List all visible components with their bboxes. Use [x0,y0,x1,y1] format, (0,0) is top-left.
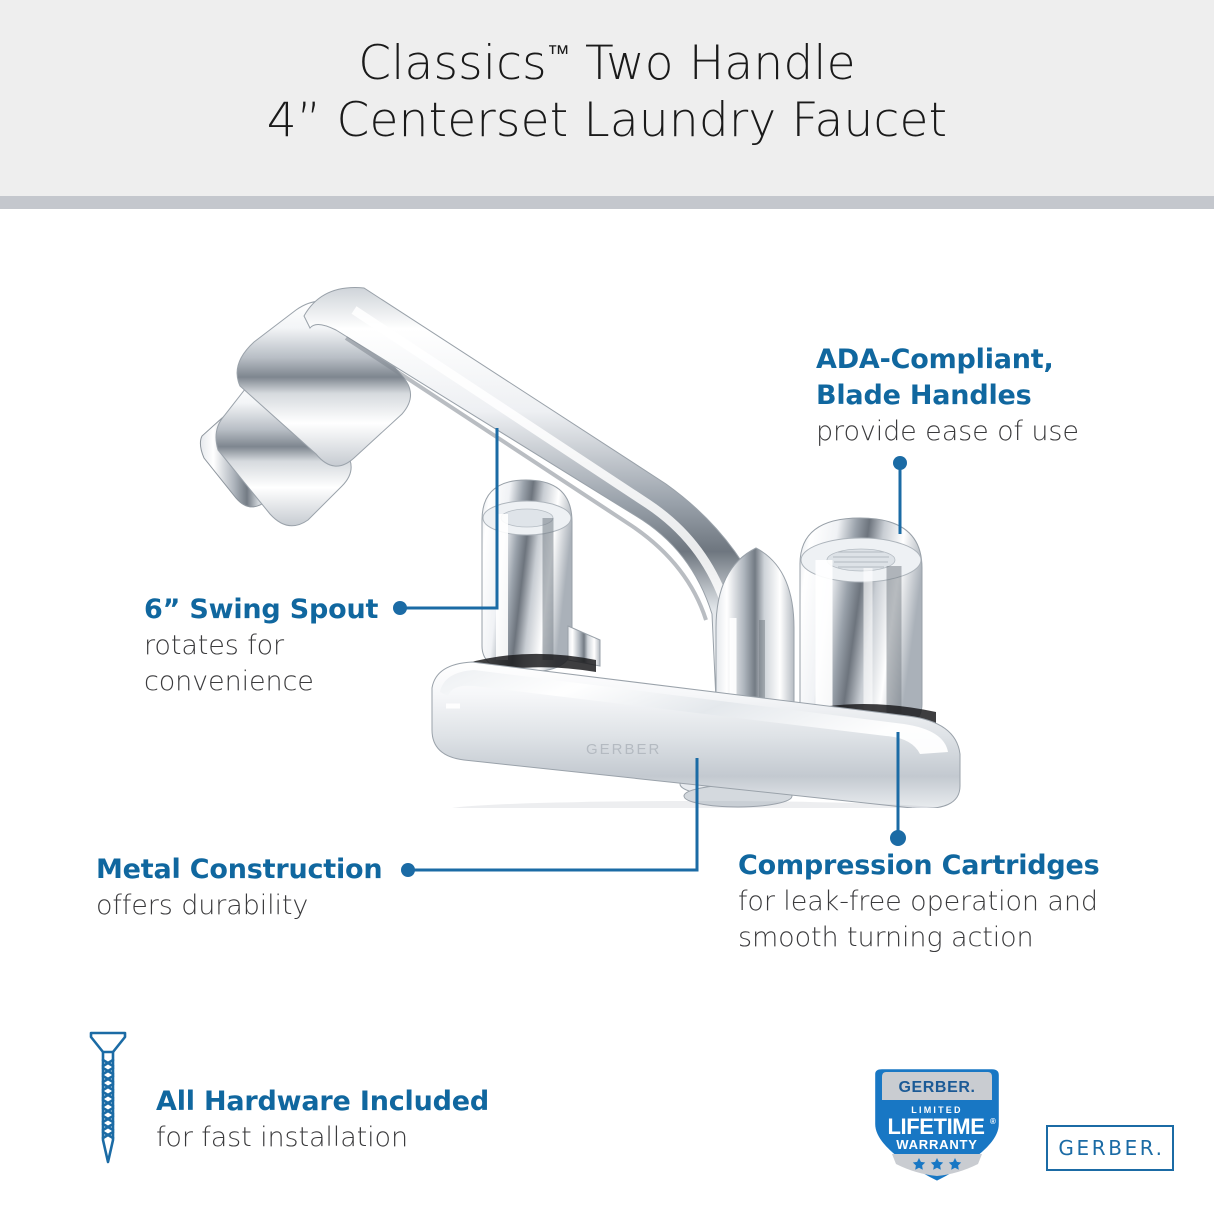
warranty-badge: GERBER. LIMITED LIFETIME ® WARRANTY [866,1064,1008,1186]
product-family-name: Classics [358,36,547,91]
callout-spout-body-line-1: rotates for [144,628,464,664]
page-title-line-1: Classics™ Two Handle [0,26,1214,92]
faucet-handle-right [800,518,922,736]
faucet-handle-left [482,480,600,672]
callout-ada-heading-line-1: ADA-Compliant, [816,342,1176,378]
callout-metal-body-line-1: offers durability [96,888,426,924]
faucet-deck-brand: GERBER [586,741,661,758]
callout-ada-heading-line-2: Blade Handles [816,378,1176,414]
callout-hardware-heading-line-1: All Hardware Included [156,1084,556,1120]
callout-cartridge-body-line-1: for leak-free operation and [738,884,1158,920]
callout-cartridge-body-line-2: smooth turning action [738,920,1158,956]
callout-hardware-body-line-1: for fast installation [156,1120,556,1156]
badge-registered-mark: ® [990,1117,996,1126]
callout-swing-spout: 6” Swing Spout rotates for convenience [144,592,464,700]
callout-metal-heading-line-1: Metal Construction [96,852,426,888]
callout-compression-cartridges: Compression Cartridges for leak-free ope… [738,848,1158,956]
leader-dot-cartridge [890,830,906,846]
gerber-logo-text: GERBER. [1055,1136,1164,1160]
callout-all-hardware-included: All Hardware Included for fast installat… [156,1084,556,1156]
badge-lifetime-text: LIFETIME [887,1114,984,1139]
badge-brand-text: GERBER. [898,1079,975,1096]
callout-cartridge-heading-line-1: Compression Cartridges [738,848,1158,884]
callout-spout-body-line-2: convenience [144,664,464,700]
callout-metal-construction: Metal Construction offers durability [96,852,426,924]
badge-warranty-text: WARRANTY [896,1137,978,1152]
callout-ada-body-line-1: provide ease of use [816,414,1176,450]
header-divider [0,196,1214,209]
gerber-logo: GERBER. [1046,1125,1174,1171]
callout-spout-heading-line-1: 6” Swing Spout [144,592,464,628]
screw-icon [85,1028,131,1170]
page-title-line-2: 4” Centerset Laundry Faucet [0,92,1214,149]
trademark-symbol: ™ [547,41,570,67]
callout-ada: ADA-Compliant, Blade Handles provide eas… [816,342,1176,450]
page-title: Classics™ Two Handle 4” Centerset Laundr… [0,26,1214,149]
product-title-rest: Two Handle [570,36,856,91]
